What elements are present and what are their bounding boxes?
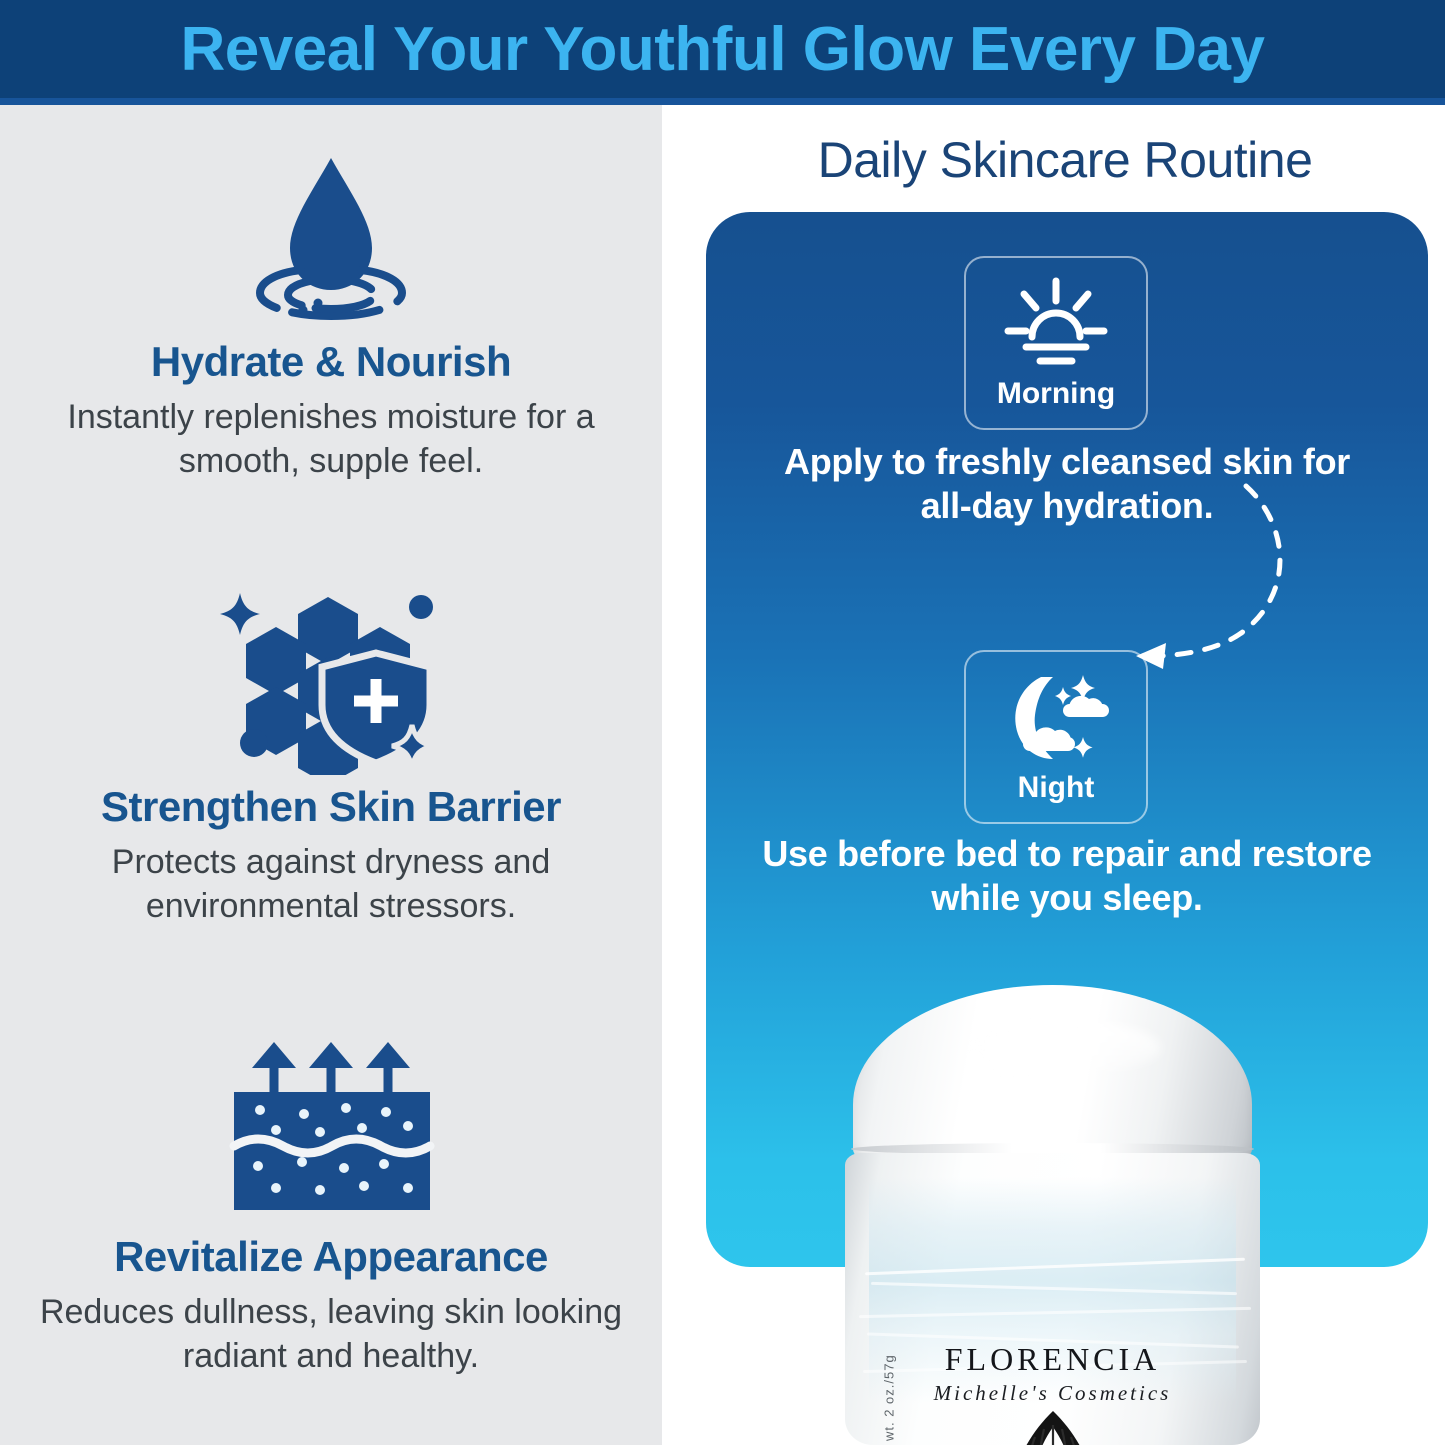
sunrise-icon	[1000, 275, 1112, 371]
feature-title: Hydrate & Nourish	[0, 338, 662, 386]
honeycomb-shield-icon	[0, 575, 662, 775]
brand-name: FLORENCIA	[845, 1341, 1260, 1378]
morning-step-box[interactable]: Morning	[964, 256, 1148, 430]
skin-layer-arrows-icon	[0, 1025, 662, 1225]
night-label: Night	[1018, 771, 1095, 805]
header-underline	[0, 98, 1445, 105]
feature-title: Revitalize Appearance	[0, 1233, 662, 1281]
night-step-text: Use before bed to repair and restore whi…	[760, 832, 1374, 920]
night-step-box[interactable]: Night	[964, 650, 1148, 824]
features-panel: Hydrate & Nourish Instantly replenishes …	[0, 105, 662, 1445]
jar-lid-highlight	[971, 1021, 1161, 1075]
dashed-curved-arrow-icon	[1126, 474, 1386, 674]
jar-lid	[853, 985, 1252, 1163]
feature-description: Instantly replenishes moisture for a smo…	[0, 396, 662, 483]
moon-clouds-icon	[997, 669, 1115, 765]
infographic-page: Reveal Your Youthful Glow Every Day Hydr…	[0, 0, 1445, 1445]
feature-revitalize-appearance: Revitalize Appearance Reduces dullness, …	[0, 1025, 662, 1378]
page-title: Reveal Your Youthful Glow Every Day	[0, 0, 1445, 98]
feature-title: Strengthen Skin Barrier	[0, 783, 662, 831]
shell-fan-logo	[978, 1403, 1128, 1445]
feature-strengthen-barrier: Strengthen Skin Barrier Protects against…	[0, 575, 662, 928]
morning-label: Morning	[997, 377, 1115, 411]
feature-hydrate-nourish: Hydrate & Nourish Instantly replenishes …	[0, 130, 662, 483]
feature-description: Protects against dryness and environment…	[0, 841, 662, 928]
jar-body: net wt. 2 oz./57g FLORENCIA Michelle's C…	[845, 1153, 1260, 1445]
water-drop-ripple-icon	[0, 130, 662, 330]
feature-description: Reduces dullness, leaving skin looking r…	[0, 1291, 662, 1378]
routine-title: Daily Skincare Routine	[700, 131, 1430, 189]
product-jar: net wt. 2 oz./57g FLORENCIA Michelle's C…	[845, 985, 1260, 1445]
